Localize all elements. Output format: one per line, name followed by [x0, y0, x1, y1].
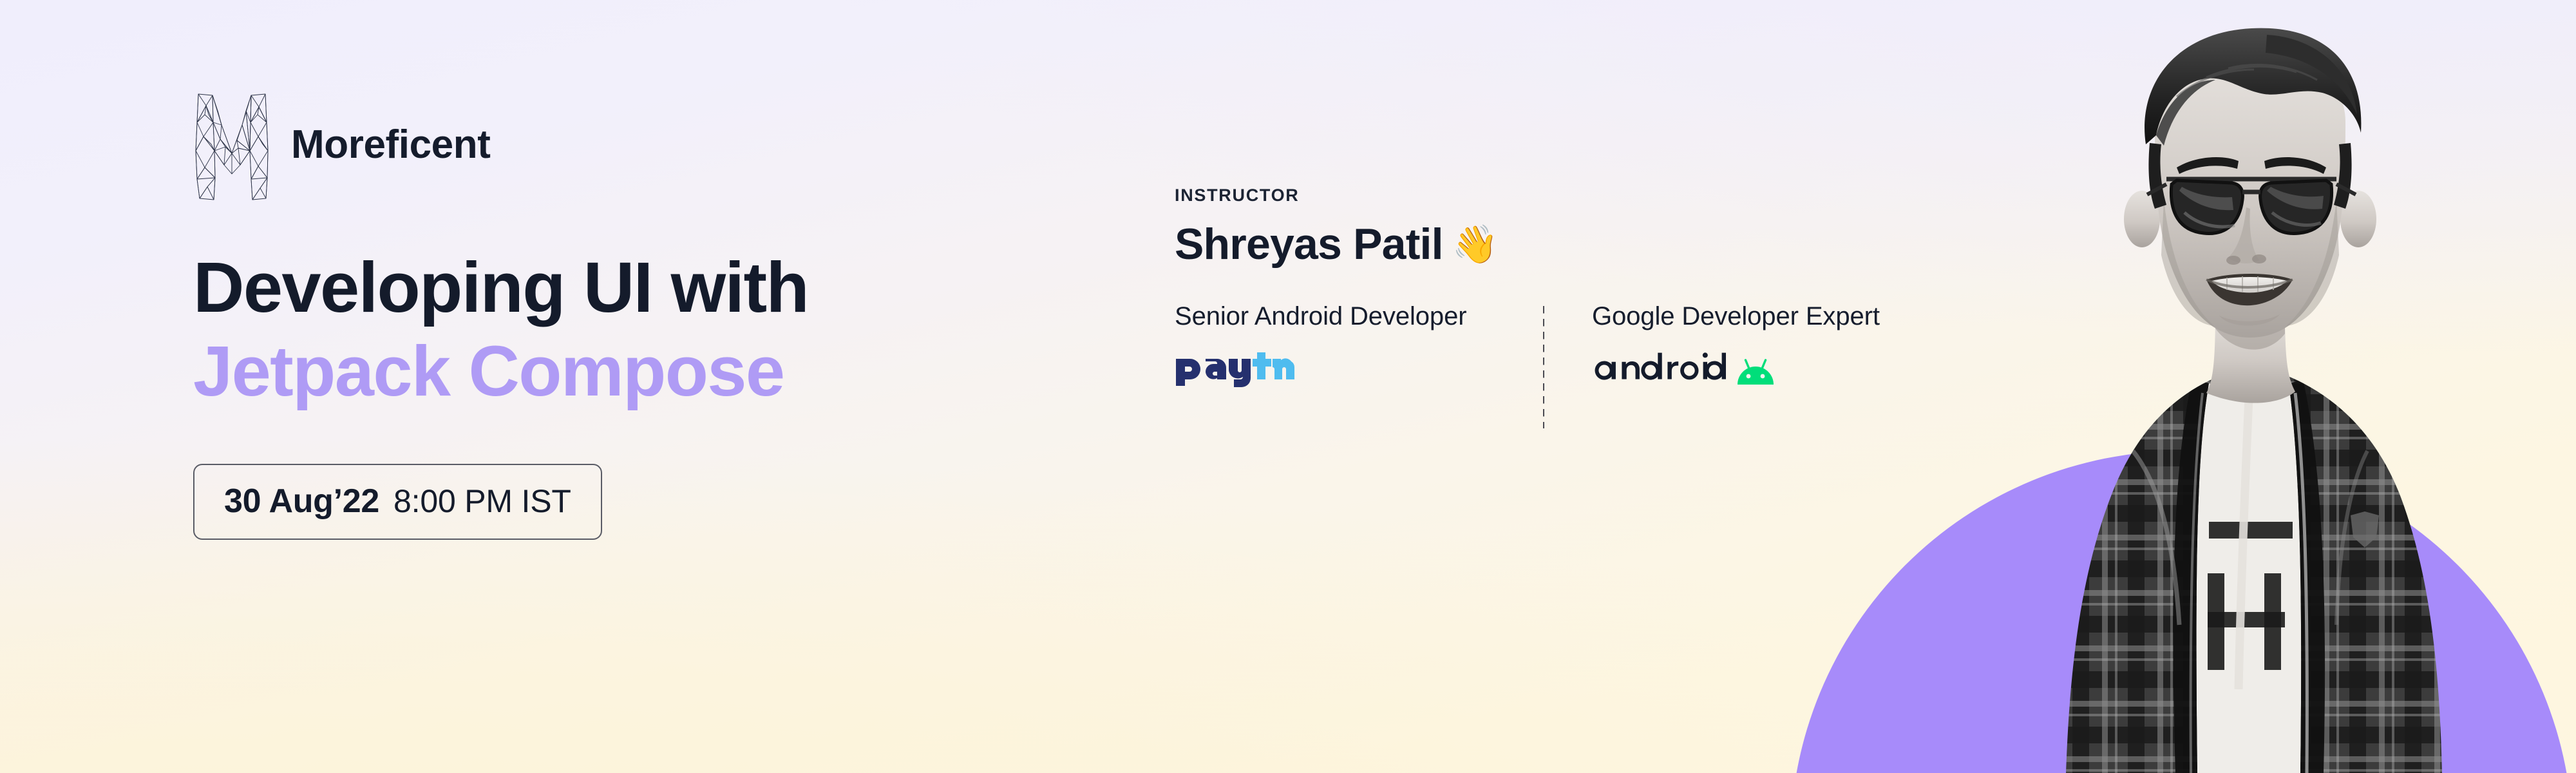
credential-item: Google Developer Expert	[1592, 303, 1880, 387]
brand-name: Moreficent	[291, 125, 490, 165]
event-date: 30 Aug’22	[224, 484, 379, 518]
left-content-column: Moreficent Developing UI with Jetpack Co…	[193, 84, 1108, 540]
event-datetime-badge: 30 Aug’22 8:00 PM IST	[193, 464, 602, 540]
paytm-logo-icon	[1175, 350, 1294, 387]
headline-line-2: Jetpack Compose	[193, 330, 1108, 414]
instructor-name: Shreyas Patil	[1175, 222, 1443, 267]
page-title: Developing UI with Jetpack Compose	[193, 246, 1108, 414]
credential-title: Senior Android Developer	[1175, 303, 1543, 329]
headline-line-1: Developing UI with	[193, 248, 808, 327]
credentials-divider	[1543, 306, 1544, 428]
event-time: 8:00 PM IST	[393, 485, 571, 517]
credential-item: Senior Android Developer	[1175, 303, 1543, 387]
android-wordmark-icon	[1592, 351, 1729, 387]
waving-hand-icon: 👋	[1452, 226, 1498, 263]
credential-title: Google Developer Expert	[1592, 303, 1880, 329]
brand-lockup: Moreficent	[193, 84, 1108, 206]
wireframe-m-logo-icon	[193, 89, 270, 202]
android-logo	[1592, 350, 1880, 387]
android-robot-head-icon	[1736, 355, 1776, 387]
webinar-banner: Moreficent Developing UI with Jetpack Co…	[0, 0, 2576, 773]
instructor-portrait	[1906, 6, 2576, 773]
instructor-portrait-image	[1906, 6, 2576, 773]
paytm-logo	[1175, 350, 1543, 387]
